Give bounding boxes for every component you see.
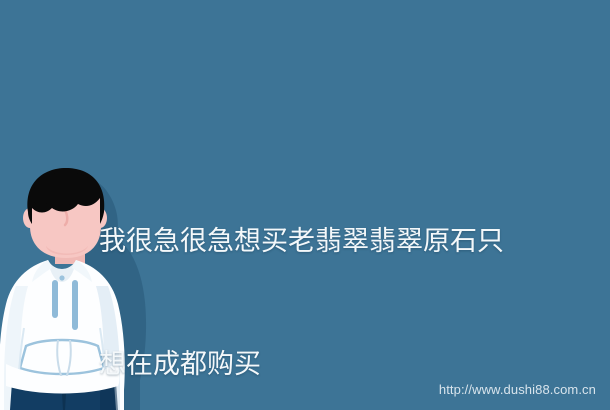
headline-line-2: 想在成都购买 [99, 344, 559, 385]
drawstring-right [72, 280, 78, 330]
drawstring-left [52, 280, 58, 318]
headline-line-1: 我很急很急想买老翡翠翡翠原石只 [99, 221, 559, 262]
hood-eyelet [59, 275, 64, 280]
watermark-url: http://www.dushi88.com.cn [439, 381, 596, 398]
headline-text: 我很急很急想买老翡翠翡翠原石只 想在成都购买 [99, 139, 559, 410]
image-canvas: 我很急很急想买老翡翠翡翠原石只 想在成都购买 http://www.dushi8… [0, 0, 610, 410]
